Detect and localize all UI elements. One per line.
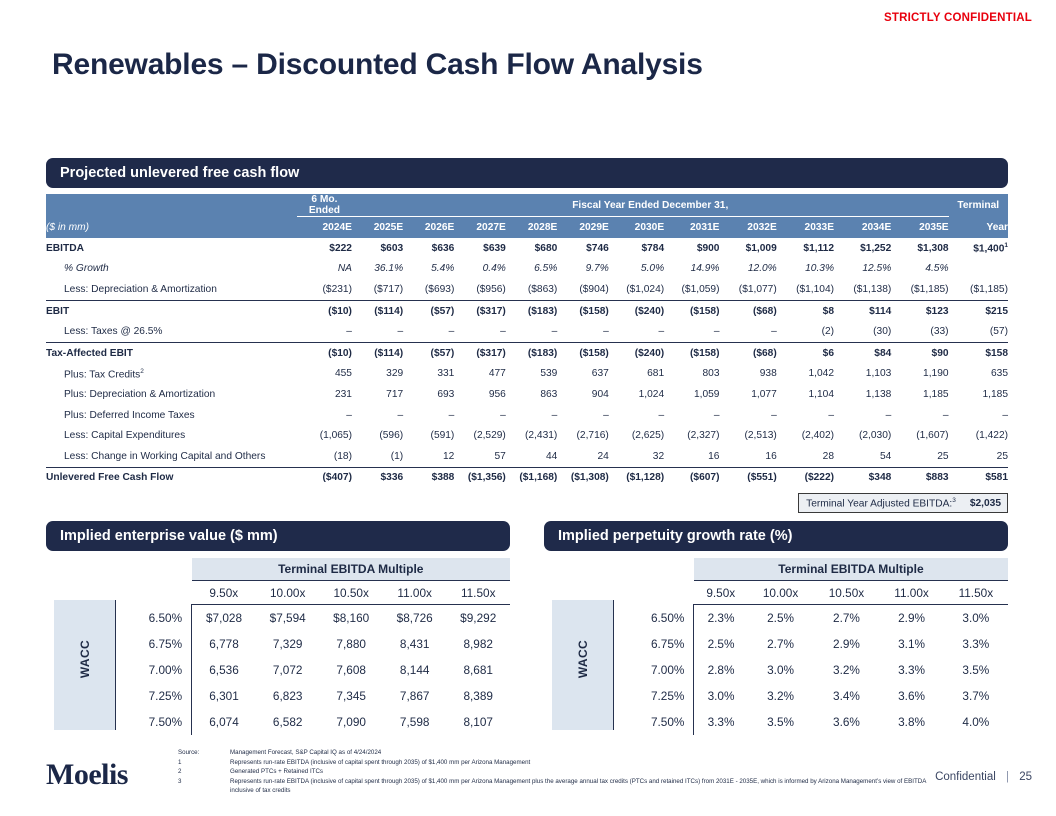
column-group-title: Terminal EBITDA Multiple bbox=[192, 558, 510, 581]
column-header-2035e: 2035E bbox=[891, 217, 948, 239]
table-cell: ($10) bbox=[297, 342, 352, 363]
row-label: Less: Change in Working Capital and Othe… bbox=[46, 446, 297, 467]
table-cell: $784 bbox=[609, 238, 664, 259]
table-cell: (30) bbox=[834, 321, 891, 342]
table-cell: $222 bbox=[297, 238, 352, 259]
strictly-confidential-tag: STRICTLY CONFIDENTIAL bbox=[884, 12, 1032, 24]
sens-row-label: 7.25% bbox=[116, 683, 192, 709]
sens-table-cell: 3.3% bbox=[879, 657, 943, 683]
footnote-text: Management Forecast, S&P Capital IQ as o… bbox=[230, 748, 938, 758]
footnote-item: Source:Management Forecast, S&P Capital … bbox=[178, 748, 938, 758]
table-cell: $1,308 bbox=[891, 238, 948, 259]
sens-table-cell: 7,072 bbox=[256, 657, 320, 683]
table-row: Plus: Tax Credits24553293314775396376818… bbox=[46, 364, 1008, 385]
sens-table-row: 7.25%3.0%3.2%3.4%3.6%3.7% bbox=[614, 683, 1008, 709]
sens-table-cell: 2.7% bbox=[814, 605, 880, 632]
table-cell: $680 bbox=[506, 238, 557, 259]
spacer-cell bbox=[614, 558, 694, 581]
table-cell: ($1,185) bbox=[891, 279, 948, 300]
group-header-terminal: Terminal bbox=[949, 194, 1008, 217]
table-cell: ($10) bbox=[297, 300, 352, 321]
table-cell: ($222) bbox=[777, 467, 834, 488]
table-cell: ($717) bbox=[352, 279, 403, 300]
footnote-marker: 3 bbox=[178, 777, 230, 796]
table-cell: ($57) bbox=[403, 342, 454, 363]
table-cell: ($114) bbox=[352, 300, 403, 321]
table-cell: 36.1% bbox=[352, 259, 403, 280]
table-cell: NA bbox=[297, 259, 352, 280]
sens-table-row: 7.25%6,3016,8237,3457,8678,389 bbox=[116, 683, 510, 709]
sens-table-cell: 6,778 bbox=[192, 631, 256, 657]
table-cell: 10.3% bbox=[777, 259, 834, 280]
sens-table-cell: 8,107 bbox=[446, 709, 510, 735]
sens-table-cell: 3.6% bbox=[814, 709, 880, 735]
table-cell: 1,077 bbox=[719, 384, 776, 405]
column-header-2031e: 2031E bbox=[664, 217, 719, 239]
column-header-2030e: 2030E bbox=[609, 217, 664, 239]
table-cell: 1,103 bbox=[834, 364, 891, 385]
table-cell: 904 bbox=[557, 384, 608, 405]
table-cell: ($607) bbox=[664, 467, 719, 488]
column-header-2034e: 2034E bbox=[834, 217, 891, 239]
table-cell: – bbox=[506, 321, 557, 342]
sens-table-cell: 7,608 bbox=[319, 657, 383, 683]
sens-row-label: 6.50% bbox=[614, 605, 694, 632]
sens-table-cell: $7,028 bbox=[192, 605, 256, 632]
spacer-cell bbox=[614, 581, 694, 605]
table-cell: ($1,356) bbox=[454, 467, 505, 488]
table-row: % GrowthNA36.1%5.4%0.4%6.5%9.7%5.0%14.9%… bbox=[46, 259, 1008, 280]
sens-table-cell: 8,431 bbox=[383, 631, 447, 657]
table-cell: ($693) bbox=[403, 279, 454, 300]
implied-enterprise-value-sensitivity-table: WACC Terminal EBITDA Multiple9.50x10.00x… bbox=[46, 558, 510, 733]
table-cell: ($1,024) bbox=[609, 279, 664, 300]
column-group-title: Terminal EBITDA Multiple bbox=[694, 558, 1008, 581]
footnote-marker: 1 bbox=[1004, 242, 1008, 249]
table-cell: (2,716) bbox=[557, 425, 608, 446]
table-cell: ($1,128) bbox=[609, 467, 664, 488]
table-cell: 1,190 bbox=[891, 364, 948, 385]
units-label: ($ in mm) bbox=[46, 217, 297, 239]
section-banner-label: Implied enterprise value ($ mm) bbox=[60, 528, 278, 544]
sens-row-label: 7.25% bbox=[614, 683, 694, 709]
table-cell: – bbox=[609, 405, 664, 426]
row-label: Unlevered Free Cash Flow bbox=[46, 467, 297, 488]
table-cell: 863 bbox=[506, 384, 557, 405]
sens-column-header: 10.00x bbox=[748, 581, 814, 605]
table-cell: 539 bbox=[506, 364, 557, 385]
table-cell: 681 bbox=[609, 364, 664, 385]
sens-table-row: 7.50%6,0746,5827,0907,5988,107 bbox=[116, 709, 510, 735]
footnote-item: 2Generated PTCs + Retained ITCs bbox=[178, 767, 938, 777]
column-header-2033e: 2033E bbox=[777, 217, 834, 239]
table-cell: – bbox=[506, 405, 557, 426]
table-cell: 9.7% bbox=[557, 259, 608, 280]
column-header-2026e: 2026E bbox=[403, 217, 454, 239]
moelis-logo: Moelis bbox=[46, 758, 128, 792]
sens-table-cell: 6,536 bbox=[192, 657, 256, 683]
sens-table-cell: 8,681 bbox=[446, 657, 510, 683]
sens-table-cell: 7,867 bbox=[383, 683, 447, 709]
row-label: EBIT bbox=[46, 300, 297, 321]
table-cell: ($183) bbox=[506, 342, 557, 363]
table-cell: $746 bbox=[557, 238, 608, 259]
footnote-marker: 1 bbox=[178, 758, 230, 768]
row-label: EBITDA bbox=[46, 238, 297, 259]
table-cell: 331 bbox=[403, 364, 454, 385]
table-cell: 938 bbox=[719, 364, 776, 385]
table-cell: 24 bbox=[557, 446, 608, 467]
table-row: Less: Depreciation & Amortization($231)(… bbox=[46, 279, 1008, 300]
sens-table-cell: 7,345 bbox=[319, 683, 383, 709]
table-cell: (2,030) bbox=[834, 425, 891, 446]
table-cell: $123 bbox=[891, 300, 948, 321]
table-cell: ($1,308) bbox=[557, 467, 608, 488]
table-cell: 1,024 bbox=[609, 384, 664, 405]
spacer-cell bbox=[46, 194, 297, 217]
table-group-header-row: 6 Mo. EndedFiscal Year Ended December 31… bbox=[46, 194, 1008, 217]
sens-table-row: 7.00%2.8%3.0%3.2%3.3%3.5% bbox=[614, 657, 1008, 683]
table-cell: (1) bbox=[352, 446, 403, 467]
table-cell: ($240) bbox=[609, 342, 664, 363]
table-row: Plus: Depreciation & Amortization2317176… bbox=[46, 384, 1008, 405]
table-cell: $90 bbox=[891, 342, 948, 363]
sens-column-header: 11.50x bbox=[446, 581, 510, 605]
table-cell: (2,529) bbox=[454, 425, 505, 446]
table-row: Less: Taxes @ 26.5%–––––––––(2)(30)(33)(… bbox=[46, 321, 1008, 342]
sens-table-cell: 8,982 bbox=[446, 631, 510, 657]
footnote-text: Generated PTCs + Retained ITCs bbox=[230, 767, 938, 777]
table-cell: 1,104 bbox=[777, 384, 834, 405]
table-cell: 54 bbox=[834, 446, 891, 467]
table-cell: ($114) bbox=[352, 342, 403, 363]
sens-table-row: 7.00%6,5367,0727,6088,1448,681 bbox=[116, 657, 510, 683]
footnote-text: Represents run-rate EBITDA (inclusive of… bbox=[230, 777, 938, 796]
table-row: EBITDA$222$603$636$639$680$746$784$900$1… bbox=[46, 238, 1008, 259]
table-cell-terminal: (57) bbox=[949, 321, 1008, 342]
table-cell: – bbox=[777, 405, 834, 426]
table-cell: ($904) bbox=[557, 279, 608, 300]
table-cell: – bbox=[454, 405, 505, 426]
table-cell-terminal: $215 bbox=[949, 300, 1008, 321]
table-cell: – bbox=[454, 321, 505, 342]
table-cell-terminal bbox=[949, 259, 1008, 280]
table-cell: ($158) bbox=[557, 300, 608, 321]
table-row: Less: Capital Expenditures(1,065)(596)(5… bbox=[46, 425, 1008, 446]
table-cell: (33) bbox=[891, 321, 948, 342]
table-cell: – bbox=[352, 405, 403, 426]
table-cell: 803 bbox=[664, 364, 719, 385]
table-cell: 44 bbox=[506, 446, 557, 467]
terminal-year-adjusted-ebitda-callout: Terminal Year Adjusted EBITDA:3 $2,035 bbox=[798, 493, 1008, 513]
table-cell: 0.4% bbox=[454, 259, 505, 280]
table-cell: ($158) bbox=[664, 342, 719, 363]
sens-table-cell: $9,292 bbox=[446, 605, 510, 632]
sens-table-cell: 3.3% bbox=[944, 631, 1008, 657]
sens-table-row: 7.50%3.3%3.5%3.6%3.8%4.0% bbox=[614, 709, 1008, 735]
footer-confidential-label: Confidential bbox=[935, 771, 996, 783]
sens-table-cell: 8,144 bbox=[383, 657, 447, 683]
table-cell: (2,625) bbox=[609, 425, 664, 446]
page-footer: Confidential | 25 bbox=[935, 771, 1032, 783]
group-header-six-month: 6 Mo. Ended bbox=[297, 194, 352, 217]
spacer-cell bbox=[116, 581, 192, 605]
sens-table-cell: 3.3% bbox=[694, 709, 748, 735]
table-cell-terminal: 25 bbox=[949, 446, 1008, 467]
sens-table-cell: 3.2% bbox=[748, 683, 814, 709]
terminal-ebitda-value: $2,035 bbox=[970, 498, 1001, 509]
table-cell: (2,327) bbox=[664, 425, 719, 446]
table-cell: – bbox=[609, 321, 664, 342]
sens-table-cell: 6,301 bbox=[192, 683, 256, 709]
table-cell: 455 bbox=[297, 364, 352, 385]
table-cell-terminal: (1,422) bbox=[949, 425, 1008, 446]
table-cell: – bbox=[297, 405, 352, 426]
projected-unlevered-free-cash-flow-table: 6 Mo. EndedFiscal Year Ended December 31… bbox=[46, 194, 1008, 488]
table-cell: ($956) bbox=[454, 279, 505, 300]
table-cell: – bbox=[352, 321, 403, 342]
footnote-marker: 2 bbox=[178, 767, 230, 777]
footnotes-block: Source:Management Forecast, S&P Capital … bbox=[178, 748, 938, 796]
table-cell: 5.4% bbox=[403, 259, 454, 280]
table-cell: (591) bbox=[403, 425, 454, 446]
table-cell: (2,513) bbox=[719, 425, 776, 446]
table-cell: – bbox=[557, 321, 608, 342]
table-cell: – bbox=[557, 405, 608, 426]
sens-row-label: 6.75% bbox=[614, 631, 694, 657]
table-cell-terminal: $1,4001 bbox=[949, 238, 1008, 259]
table-cell: 12 bbox=[403, 446, 454, 467]
table-cell: $639 bbox=[454, 238, 505, 259]
sens-table-cell: 6,582 bbox=[256, 709, 320, 735]
sens-table-row: 6.75%2.5%2.7%2.9%3.1%3.3% bbox=[614, 631, 1008, 657]
table-cell: ($1,077) bbox=[719, 279, 776, 300]
column-header-2025e: 2025E bbox=[352, 217, 403, 239]
sens-table-cell: $8,726 bbox=[383, 605, 447, 632]
sens-row-label: 7.50% bbox=[614, 709, 694, 735]
column-header-2028e: 2028E bbox=[506, 217, 557, 239]
table-cell: ($68) bbox=[719, 300, 776, 321]
table-cell-terminal: 635 bbox=[949, 364, 1008, 385]
terminal-ebitda-label: Terminal Year Adjusted EBITDA:3 bbox=[806, 497, 956, 509]
footnote-marker: Source: bbox=[178, 748, 230, 758]
sens-row-label: 7.00% bbox=[116, 657, 192, 683]
table-cell: ($240) bbox=[609, 300, 664, 321]
table-row: Less: Change in Working Capital and Othe… bbox=[46, 446, 1008, 467]
footer-separator: | bbox=[1006, 771, 1009, 783]
row-label: % Growth bbox=[46, 259, 297, 280]
table-cell: ($1,104) bbox=[777, 279, 834, 300]
table-cell-terminal: 1,185 bbox=[949, 384, 1008, 405]
row-label: Plus: Deferred Income Taxes bbox=[46, 405, 297, 426]
table-cell: (1,065) bbox=[297, 425, 352, 446]
sens-table-cell: 3.2% bbox=[814, 657, 880, 683]
table-cell: $84 bbox=[834, 342, 891, 363]
section-banner-projected-cash-flow: Projected unlevered free cash flow bbox=[46, 158, 1008, 188]
table-cell: – bbox=[891, 405, 948, 426]
sens-table-cell: 2.7% bbox=[748, 631, 814, 657]
wacc-axis-label: WACC bbox=[576, 602, 590, 716]
page-title: Renewables – Discounted Cash Flow Analys… bbox=[52, 48, 703, 82]
table-cell: – bbox=[719, 321, 776, 342]
section-banner-implied-perpetuity-growth-rate: Implied perpetuity growth rate (%) bbox=[544, 521, 1008, 551]
section-banner-label: Projected unlevered free cash flow bbox=[60, 165, 299, 181]
sens-row-label: 7.00% bbox=[614, 657, 694, 683]
sens-table-row: 6.50%2.3%2.5%2.7%2.9%3.0% bbox=[614, 605, 1008, 632]
sens-table-cell: 3.0% bbox=[748, 657, 814, 683]
table-cell: $388 bbox=[403, 467, 454, 488]
sens-table-cell: 3.8% bbox=[879, 709, 943, 735]
sens-column-header: 10.50x bbox=[319, 581, 383, 605]
sens-table-cell: 2.9% bbox=[814, 631, 880, 657]
table-cell: $348 bbox=[834, 467, 891, 488]
table-cell: 4.5% bbox=[891, 259, 948, 280]
table-row: Unlevered Free Cash Flow($407)$336$388($… bbox=[46, 467, 1008, 488]
footer-page-number: 25 bbox=[1019, 771, 1032, 783]
footnote-item: 1Represents run-rate EBITDA (inclusive o… bbox=[178, 758, 938, 768]
table-cell: ($57) bbox=[403, 300, 454, 321]
implied-perpetuity-growth-rate-sensitivity-table: WACC Terminal EBITDA Multiple9.50x10.00x… bbox=[544, 558, 1008, 733]
table-cell: – bbox=[297, 321, 352, 342]
table-cell: $1,009 bbox=[719, 238, 776, 259]
table-cell: 231 bbox=[297, 384, 352, 405]
table-cell: 32 bbox=[609, 446, 664, 467]
table-cell: 16 bbox=[719, 446, 776, 467]
table-cell: 329 bbox=[352, 364, 403, 385]
sens-table-cell: 3.7% bbox=[944, 683, 1008, 709]
sens-table-cell: 3.5% bbox=[748, 709, 814, 735]
table-cell: $1,252 bbox=[834, 238, 891, 259]
column-header-terminal-year: Year bbox=[949, 217, 1008, 239]
table-cell-terminal: – bbox=[949, 405, 1008, 426]
table-cell: – bbox=[664, 405, 719, 426]
table-cell: 1,138 bbox=[834, 384, 891, 405]
sens-group-header-row: Terminal EBITDA Multiple bbox=[614, 558, 1008, 581]
column-header-2024e: 2024E bbox=[297, 217, 352, 239]
sens-column-header: 11.00x bbox=[879, 581, 943, 605]
sens-table-cell: 3.0% bbox=[694, 683, 748, 709]
sens-table-cell: 2.3% bbox=[694, 605, 748, 632]
table-cell: 956 bbox=[454, 384, 505, 405]
sens-table-cell: $7,594 bbox=[256, 605, 320, 632]
sens-column-header: 9.50x bbox=[694, 581, 748, 605]
wacc-axis-label: WACC bbox=[78, 602, 92, 716]
sens-table-row: 6.50%$7,028$7,594$8,160$8,726$9,292 bbox=[116, 605, 510, 632]
table-cell: ($1,168) bbox=[506, 467, 557, 488]
sens-column-header: 10.50x bbox=[814, 581, 880, 605]
table-cell: (2,402) bbox=[777, 425, 834, 446]
table-row: Plus: Deferred Income Taxes––––––––––––– bbox=[46, 405, 1008, 426]
table-cell: 5.0% bbox=[609, 259, 664, 280]
table-cell: ($407) bbox=[297, 467, 352, 488]
sens-column-header: 9.50x bbox=[192, 581, 256, 605]
sens-table-cell: 2.5% bbox=[748, 605, 814, 632]
table-cell-terminal: ($1,185) bbox=[949, 279, 1008, 300]
table-cell: ($551) bbox=[719, 467, 776, 488]
footnote-item: 3Represents run-rate EBITDA (inclusive o… bbox=[178, 777, 938, 796]
wacc-axis-box: WACC bbox=[552, 600, 614, 730]
sens-column-header: 10.00x bbox=[256, 581, 320, 605]
sens-group-header-row: Terminal EBITDA Multiple bbox=[116, 558, 510, 581]
sens-column-header-row: 9.50x10.00x10.50x11.00x11.50x bbox=[116, 581, 510, 605]
table-cell: 16 bbox=[664, 446, 719, 467]
sens-table-cell: $8,160 bbox=[319, 605, 383, 632]
table-cell: – bbox=[719, 405, 776, 426]
table-cell: (18) bbox=[297, 446, 352, 467]
table-cell: 1,059 bbox=[664, 384, 719, 405]
table-cell: ($158) bbox=[664, 300, 719, 321]
sens-column-header: 11.50x bbox=[944, 581, 1008, 605]
table-cell: – bbox=[403, 405, 454, 426]
row-label: Less: Depreciation & Amortization bbox=[46, 279, 297, 300]
footnote-marker: 2 bbox=[140, 368, 144, 375]
table-cell: $900 bbox=[664, 238, 719, 259]
table-cell: 28 bbox=[777, 446, 834, 467]
sens-table-cell: 6,074 bbox=[192, 709, 256, 735]
table-cell: ($1,138) bbox=[834, 279, 891, 300]
table-cell: (1,607) bbox=[891, 425, 948, 446]
table-cell: $636 bbox=[403, 238, 454, 259]
sens-table-cell: 7,598 bbox=[383, 709, 447, 735]
sens-row-label: 7.50% bbox=[116, 709, 192, 735]
table-cell: 14.9% bbox=[664, 259, 719, 280]
table-cell: (2) bbox=[777, 321, 834, 342]
table-cell: (2,431) bbox=[506, 425, 557, 446]
table-cell: – bbox=[403, 321, 454, 342]
table-cell: ($863) bbox=[506, 279, 557, 300]
section-banner-implied-enterprise-value: Implied enterprise value ($ mm) bbox=[46, 521, 510, 551]
sens-table-cell: 3.1% bbox=[879, 631, 943, 657]
row-label: Less: Capital Expenditures bbox=[46, 425, 297, 446]
table-cell: $114 bbox=[834, 300, 891, 321]
table-cell: ($231) bbox=[297, 279, 352, 300]
table-cell: $8 bbox=[777, 300, 834, 321]
table-cell: 6.5% bbox=[506, 259, 557, 280]
sens-table-cell: 3.4% bbox=[814, 683, 880, 709]
table-cell: – bbox=[664, 321, 719, 342]
spacer-cell bbox=[116, 558, 192, 581]
table-cell: $1,112 bbox=[777, 238, 834, 259]
row-label: Less: Taxes @ 26.5% bbox=[46, 321, 297, 342]
table-cell: $883 bbox=[891, 467, 948, 488]
row-label: Plus: Tax Credits2 bbox=[46, 364, 297, 385]
table-row: EBIT($10)($114)($57)($317)($183)($158)($… bbox=[46, 300, 1008, 321]
sens-table-cell: 7,329 bbox=[256, 631, 320, 657]
table-cell: 637 bbox=[557, 364, 608, 385]
table-cell: ($1,059) bbox=[664, 279, 719, 300]
table-cell: 1,185 bbox=[891, 384, 948, 405]
table-cell: 477 bbox=[454, 364, 505, 385]
table-cell: ($317) bbox=[454, 342, 505, 363]
sens-table-cell: 7,880 bbox=[319, 631, 383, 657]
table-cell: $603 bbox=[352, 238, 403, 259]
sens-table-cell: 6,823 bbox=[256, 683, 320, 709]
table-column-header-row: ($ in mm)2024E2025E2026E2027E2028E2029E2… bbox=[46, 217, 1008, 239]
sens-table-cell: 4.0% bbox=[944, 709, 1008, 735]
sens-column-header: 11.00x bbox=[383, 581, 447, 605]
table-cell: ($68) bbox=[719, 342, 776, 363]
sens-table-cell: 8,389 bbox=[446, 683, 510, 709]
sens-table-cell: 3.6% bbox=[879, 683, 943, 709]
sens-column-header-row: 9.50x10.00x10.50x11.00x11.50x bbox=[614, 581, 1008, 605]
table-cell: 693 bbox=[403, 384, 454, 405]
table-cell: $336 bbox=[352, 467, 403, 488]
table-row: Tax-Affected EBIT($10)($114)($57)($317)(… bbox=[46, 342, 1008, 363]
table-cell: ($183) bbox=[506, 300, 557, 321]
table-cell: (596) bbox=[352, 425, 403, 446]
table-cell: 1,042 bbox=[777, 364, 834, 385]
wacc-axis-box: WACC bbox=[54, 600, 116, 730]
